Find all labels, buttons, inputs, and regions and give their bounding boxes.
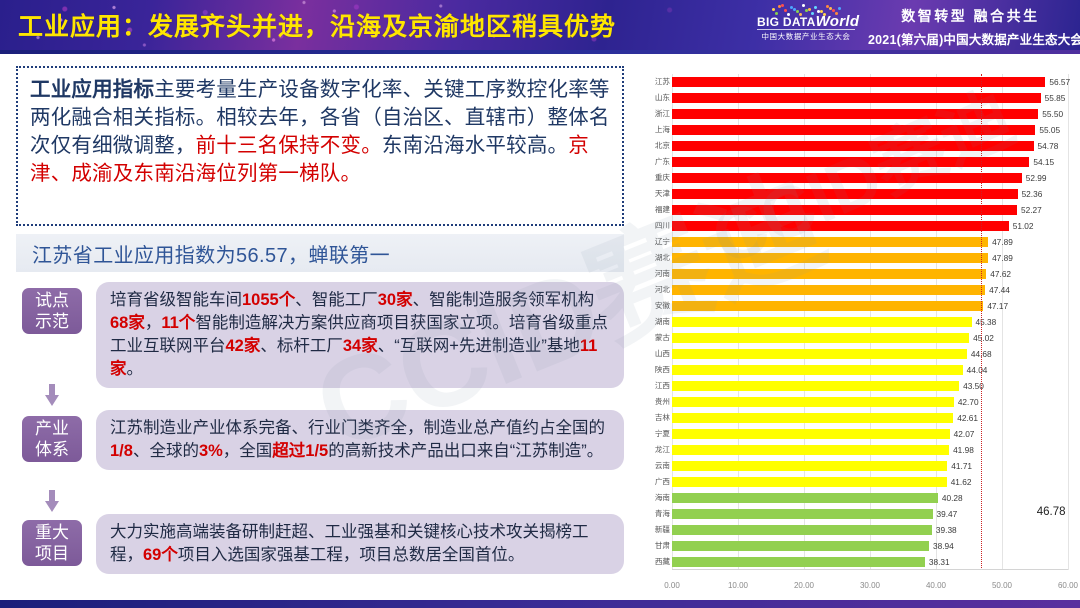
chart-bar[interactable] bbox=[672, 189, 1018, 199]
block-0-highlight-5: 68家 bbox=[110, 314, 145, 332]
chart-bar[interactable] bbox=[672, 349, 967, 359]
chart-bar-row: 47.89 bbox=[672, 250, 1068, 266]
chart-category-label: 辽宁 bbox=[644, 234, 670, 250]
block-0-run-14: 。 bbox=[127, 360, 144, 378]
chart-bar[interactable] bbox=[672, 429, 950, 439]
chart-bar-value-label: 55.50 bbox=[1042, 106, 1063, 122]
chart-bar-row: 54.78 bbox=[672, 138, 1068, 154]
slide-header: 工业应用：发展齐头并进，沿海及京渝地区稍具优势 BIG DATAWorld 中国… bbox=[0, 0, 1080, 50]
chart-bar-row: 55.50 bbox=[672, 106, 1068, 122]
chart-bar-row: 43.50 bbox=[672, 378, 1068, 394]
logo-bigdata-text: BIG DATA bbox=[757, 15, 816, 29]
chart-bar-row: 41.71 bbox=[672, 458, 1068, 474]
chart-category-label: 湖北 bbox=[644, 250, 670, 266]
chart-x-tick-label: 0.00 bbox=[664, 581, 680, 590]
chart-bar-row: 55.05 bbox=[672, 122, 1068, 138]
block-0-run-0: 培育省级智能车间 bbox=[110, 291, 242, 309]
chart-bar-value-label: 52.27 bbox=[1021, 202, 1042, 218]
chart-bar-value-label: 54.15 bbox=[1033, 154, 1054, 170]
chart-category-label: 甘肃 bbox=[644, 538, 670, 554]
chart-bar-value-label: 55.05 bbox=[1039, 122, 1060, 138]
chart-bar-row: 39.47 bbox=[672, 506, 1068, 522]
chart-x-axis-line bbox=[672, 569, 1068, 570]
chart-bar[interactable] bbox=[672, 333, 969, 343]
chart-bar-value-label: 39.47 bbox=[937, 506, 958, 522]
chart-category-label: 河南 bbox=[644, 266, 670, 282]
chart-x-tick-label: 20.00 bbox=[794, 581, 814, 590]
block-0-run-12: 、“互联网+先进制造业”基地 bbox=[378, 337, 580, 355]
conference-slogan: 数智转型 融合共生 bbox=[868, 6, 1073, 26]
chart-bar-row: 44.68 bbox=[672, 346, 1068, 362]
chart-bar[interactable] bbox=[672, 109, 1038, 119]
chart-plot-area: 56.5755.8555.5055.0554.7854.1552.9952.36… bbox=[672, 74, 1068, 570]
chart-category-label: 西藏 bbox=[644, 554, 670, 570]
chart-bar-row: 41.98 bbox=[672, 442, 1068, 458]
block-0-highlight-1: 1055个 bbox=[242, 291, 295, 309]
chart-bar-value-label: 45.02 bbox=[973, 330, 994, 346]
chart-category-label: 蒙古 bbox=[644, 330, 670, 346]
chart-bar[interactable] bbox=[672, 477, 947, 487]
block-tag-projects-line2: 项目 bbox=[22, 543, 82, 564]
block-0-run-2: 、智能工厂 bbox=[295, 291, 378, 309]
chart-x-tick-label: 40.00 bbox=[926, 581, 946, 590]
chart-category-label: 云南 bbox=[644, 458, 670, 474]
chart-bar-value-label: 42.07 bbox=[954, 426, 975, 442]
block-2-highlight-1: 69个 bbox=[143, 546, 178, 564]
chart-bar-row: 56.57 bbox=[672, 74, 1068, 90]
slide-root: 工业应用：发展齐头并进，沿海及京渝地区稍具优势 BIG DATAWorld 中国… bbox=[0, 0, 1080, 608]
chart-bar-value-label: 47.17 bbox=[987, 298, 1008, 314]
chart-bar-value-label: 41.62 bbox=[951, 474, 972, 490]
chart-bar[interactable] bbox=[672, 557, 925, 567]
description-text: 工业应用指标主要考量生产设备数字化率、关键工序数控化率等两化融合相关指标。相较去… bbox=[30, 76, 612, 188]
info-block-industry-system: 产业 体系 江苏制造业产业体系完备、行业门类齐全，制造业总产值约占全国的1/8、… bbox=[22, 410, 624, 470]
chart-panel: 56.5755.8555.5055.0554.7854.1552.9952.36… bbox=[640, 54, 1080, 608]
block-2-run-2: 项目入选国家强基工程，项目总数居全国首位。 bbox=[178, 546, 525, 564]
chart-bar-value-label: 55.85 bbox=[1045, 90, 1066, 106]
chart-bar-value-label: 54.78 bbox=[1038, 138, 1059, 154]
chart-bar-value-label: 42.61 bbox=[957, 410, 978, 426]
logo-main-text: BIG DATAWorld bbox=[757, 16, 855, 28]
chart-bar-value-label: 47.89 bbox=[992, 234, 1013, 250]
chart-bar-value-label: 38.31 bbox=[929, 554, 950, 570]
chart-bar-value-label: 47.89 bbox=[992, 250, 1013, 266]
subtitle-text: 江苏省工业应用指数为56.57，蝉联第一 bbox=[32, 239, 390, 268]
bigdata-world-logo: BIG DATAWorld 中国大数据产业生态大会 bbox=[757, 4, 855, 48]
chart-bar[interactable] bbox=[672, 157, 1029, 167]
chart-bar-row: 52.27 bbox=[672, 202, 1068, 218]
chart-bar[interactable] bbox=[672, 413, 953, 423]
description-body-2: 东南沿海水平较高。 bbox=[382, 134, 568, 157]
chart-bar-row: 44.04 bbox=[672, 362, 1068, 378]
chart-bar-row: 38.31 bbox=[672, 554, 1068, 570]
chart-category-label: 北京 bbox=[644, 138, 670, 154]
chart-category-label: 上海 bbox=[644, 122, 670, 138]
chart-category-label: 四川 bbox=[644, 218, 670, 234]
block-0-run-6: ， bbox=[145, 314, 162, 332]
chart-x-tick-label: 60.00 bbox=[1058, 581, 1078, 590]
block-1-run-6: 的高新技术产品出口来自“江苏制造”。 bbox=[328, 442, 603, 460]
chart-average-line bbox=[981, 74, 982, 570]
chart-x-tick-label: 50.00 bbox=[992, 581, 1012, 590]
block-1-run-2: 、全球的 bbox=[133, 442, 199, 460]
chart-bar[interactable] bbox=[672, 509, 933, 519]
chart-bar-row: 42.61 bbox=[672, 410, 1068, 426]
chart-bar[interactable] bbox=[672, 269, 986, 279]
chart-bar-row: 38.94 bbox=[672, 538, 1068, 554]
chart-bar[interactable] bbox=[672, 285, 985, 295]
chart-bar-value-label: 47.44 bbox=[989, 282, 1010, 298]
logo-dots-icon bbox=[770, 4, 842, 15]
chart-bar[interactable] bbox=[672, 317, 972, 327]
flow-arrow-1-icon bbox=[45, 384, 59, 406]
chart-bar[interactable] bbox=[672, 493, 938, 503]
conference-name: 2021(第六届)中国大数据产业生态大会 bbox=[868, 29, 1073, 48]
block-0-highlight-3: 30家 bbox=[378, 291, 413, 309]
description-red-1: 前十三名保持不变。 bbox=[196, 134, 382, 157]
block-1-run-0: 江苏制造业产业体系完备、行业门类齐全，制造业总产值约占全国的 bbox=[110, 419, 605, 437]
chart-category-label: 山西 bbox=[644, 346, 670, 362]
chart-bar-row: 39.38 bbox=[672, 522, 1068, 538]
description-box: 工业应用指标主要考量生产设备数字化率、关键工序数控化率等两化融合相关指标。相较去… bbox=[16, 66, 624, 226]
chart-bar[interactable] bbox=[672, 253, 988, 263]
chart-bar-row: 42.70 bbox=[672, 394, 1068, 410]
block-tag-pilot: 试点 示范 bbox=[22, 288, 82, 334]
chart-gridline bbox=[1068, 74, 1069, 570]
chart-category-label: 江苏 bbox=[644, 74, 670, 90]
block-tag-industry-line2: 体系 bbox=[22, 439, 82, 460]
chart-bar-row: 47.89 bbox=[672, 234, 1068, 250]
chart-category-label: 海南 bbox=[644, 490, 670, 506]
chart-category-label: 吉林 bbox=[644, 410, 670, 426]
chart-bar[interactable] bbox=[672, 397, 954, 407]
chart-category-label: 陕西 bbox=[644, 362, 670, 378]
info-block-major-projects: 重大 项目 大力实施高端装备研制赶超、工业强基和关键核心技术攻关揭榜工程，69个… bbox=[22, 514, 624, 574]
chart-x-tick-label: 30.00 bbox=[860, 581, 880, 590]
chart-category-label: 贵州 bbox=[644, 394, 670, 410]
chart-bar-row: 51.02 bbox=[672, 218, 1068, 234]
chart-category-label: 江西 bbox=[644, 378, 670, 394]
chart-bar[interactable] bbox=[672, 445, 949, 455]
block-text-projects: 大力实施高端装备研制赶超、工业强基和关键核心技术攻关揭榜工程，69个项目入选国家… bbox=[96, 514, 624, 574]
chart-bar-value-label: 42.70 bbox=[958, 394, 979, 410]
chart-bar[interactable] bbox=[672, 541, 929, 551]
block-tag-pilot-line2: 示范 bbox=[22, 311, 82, 332]
page-title: 工业应用：发展齐头并进，沿海及京渝地区稍具优势 bbox=[18, 7, 616, 43]
chart-category-label: 重庆 bbox=[644, 170, 670, 186]
chart-category-label: 山东 bbox=[644, 90, 670, 106]
chart-bar-row: 42.07 bbox=[672, 426, 1068, 442]
block-0-run-4: 、智能制造服务领军机构 bbox=[413, 291, 595, 309]
chart-category-label: 广西 bbox=[644, 474, 670, 490]
block-tag-projects-line1: 重大 bbox=[22, 522, 82, 543]
logo-subtitle-text: 中国大数据产业生态大会 bbox=[757, 29, 855, 42]
chart-category-label: 福建 bbox=[644, 202, 670, 218]
chart-bar[interactable] bbox=[672, 461, 947, 471]
chart-bar-row: 40.28 bbox=[672, 490, 1068, 506]
block-tag-industry-line1: 产业 bbox=[22, 418, 82, 439]
chart-category-label: 浙江 bbox=[644, 106, 670, 122]
chart-bar[interactable] bbox=[672, 93, 1041, 103]
flow-arrow-2-icon bbox=[45, 490, 59, 512]
logo-world-text: World bbox=[816, 13, 860, 30]
block-0-highlight-11: 34家 bbox=[343, 337, 378, 355]
block-1-highlight-3: 3% bbox=[199, 442, 223, 460]
block-text-industry: 江苏制造业产业体系完备、行业门类齐全，制造业总产值约占全国的1/8、全球的3%，… bbox=[96, 410, 624, 470]
chart-bar-value-label: 41.98 bbox=[953, 442, 974, 458]
chart-bar-row: 47.62 bbox=[672, 266, 1068, 282]
chart-bar-value-label: 39.38 bbox=[936, 522, 957, 538]
conference-branding: 数智转型 融合共生 2021(第六届)中国大数据产业生态大会 bbox=[868, 6, 1073, 48]
chart-category-label: 湖南 bbox=[644, 314, 670, 330]
footer-strip bbox=[0, 600, 1080, 608]
chart-bar-value-label: 40.28 bbox=[942, 490, 963, 506]
chart-bar-row: 41.62 bbox=[672, 474, 1068, 490]
chart-bar[interactable] bbox=[672, 365, 963, 375]
province-index-bar-chart: 56.5755.8555.5055.0554.7854.1552.9952.36… bbox=[644, 74, 1074, 594]
chart-category-label: 新疆 bbox=[644, 522, 670, 538]
description-highlight-term: 工业应用指标 bbox=[30, 78, 154, 101]
block-1-run-4: ，全国 bbox=[223, 442, 273, 460]
block-0-highlight-7: 11个 bbox=[161, 314, 195, 332]
chart-bar-row: 55.85 bbox=[672, 90, 1068, 106]
chart-bar-row: 47.44 bbox=[672, 282, 1068, 298]
chart-bar[interactable] bbox=[672, 221, 1009, 231]
block-tag-pilot-line1: 试点 bbox=[22, 290, 82, 311]
chart-bar[interactable] bbox=[672, 173, 1022, 183]
chart-bar[interactable] bbox=[672, 205, 1017, 215]
subtitle-bar: 江苏省工业应用指数为56.57，蝉联第一 bbox=[16, 234, 624, 272]
chart-category-label: 广东 bbox=[644, 154, 670, 170]
chart-average-annotation: 46.78 bbox=[1037, 506, 1066, 518]
chart-bar-value-label: 47.62 bbox=[990, 266, 1011, 282]
chart-bar-row: 47.17 bbox=[672, 298, 1068, 314]
chart-bar-value-label: 52.36 bbox=[1022, 186, 1043, 202]
block-text-pilot: 培育省级智能车间1055个、智能工厂30家、智能制造服务领军机构68家，11个智… bbox=[96, 282, 624, 388]
chart-category-label: 宁夏 bbox=[644, 426, 670, 442]
chart-bar[interactable] bbox=[672, 381, 959, 391]
chart-bar[interactable] bbox=[672, 301, 983, 311]
chart-bar-row: 45.02 bbox=[672, 330, 1068, 346]
chart-bar-value-label: 56.57 bbox=[1049, 74, 1070, 90]
chart-category-label: 青海 bbox=[644, 506, 670, 522]
block-1-highlight-1: 1/8 bbox=[110, 442, 133, 460]
chart-bar-row: 54.15 bbox=[672, 154, 1068, 170]
chart-bar-row: 52.36 bbox=[672, 186, 1068, 202]
chart-category-label: 龙江 bbox=[644, 442, 670, 458]
chart-x-tick-label: 10.00 bbox=[728, 581, 748, 590]
chart-bar[interactable] bbox=[672, 525, 932, 535]
block-0-run-10: 、标杆工厂 bbox=[260, 337, 343, 355]
chart-bar-value-label: 41.71 bbox=[951, 458, 972, 474]
chart-bar[interactable] bbox=[672, 141, 1034, 151]
chart-bar-value-label: 38.94 bbox=[933, 538, 954, 554]
block-0-highlight-9: 42家 bbox=[226, 337, 261, 355]
info-block-pilot: 试点 示范 培育省级智能车间1055个、智能工厂30家、智能制造服务领军机构68… bbox=[22, 282, 624, 388]
chart-bar[interactable] bbox=[672, 237, 988, 247]
chart-bar-row: 45.38 bbox=[672, 314, 1068, 330]
block-tag-industry: 产业 体系 bbox=[22, 416, 82, 462]
chart-bar-row: 52.99 bbox=[672, 170, 1068, 186]
block-tag-projects: 重大 项目 bbox=[22, 520, 82, 566]
chart-category-label: 河北 bbox=[644, 282, 670, 298]
chart-bar-value-label: 45.38 bbox=[976, 314, 997, 330]
left-content-panel: 工业应用指标主要考量生产设备数字化率、关键工序数控化率等两化融合相关指标。相较去… bbox=[0, 54, 640, 608]
chart-category-label: 安徽 bbox=[644, 298, 670, 314]
chart-bar[interactable] bbox=[672, 77, 1045, 87]
chart-bar-value-label: 52.99 bbox=[1026, 170, 1047, 186]
block-1-highlight-5: 超过1/5 bbox=[272, 442, 328, 460]
chart-bar-value-label: 44.04 bbox=[967, 362, 988, 378]
chart-bar-value-label: 51.02 bbox=[1013, 218, 1034, 234]
chart-category-label: 天津 bbox=[644, 186, 670, 202]
